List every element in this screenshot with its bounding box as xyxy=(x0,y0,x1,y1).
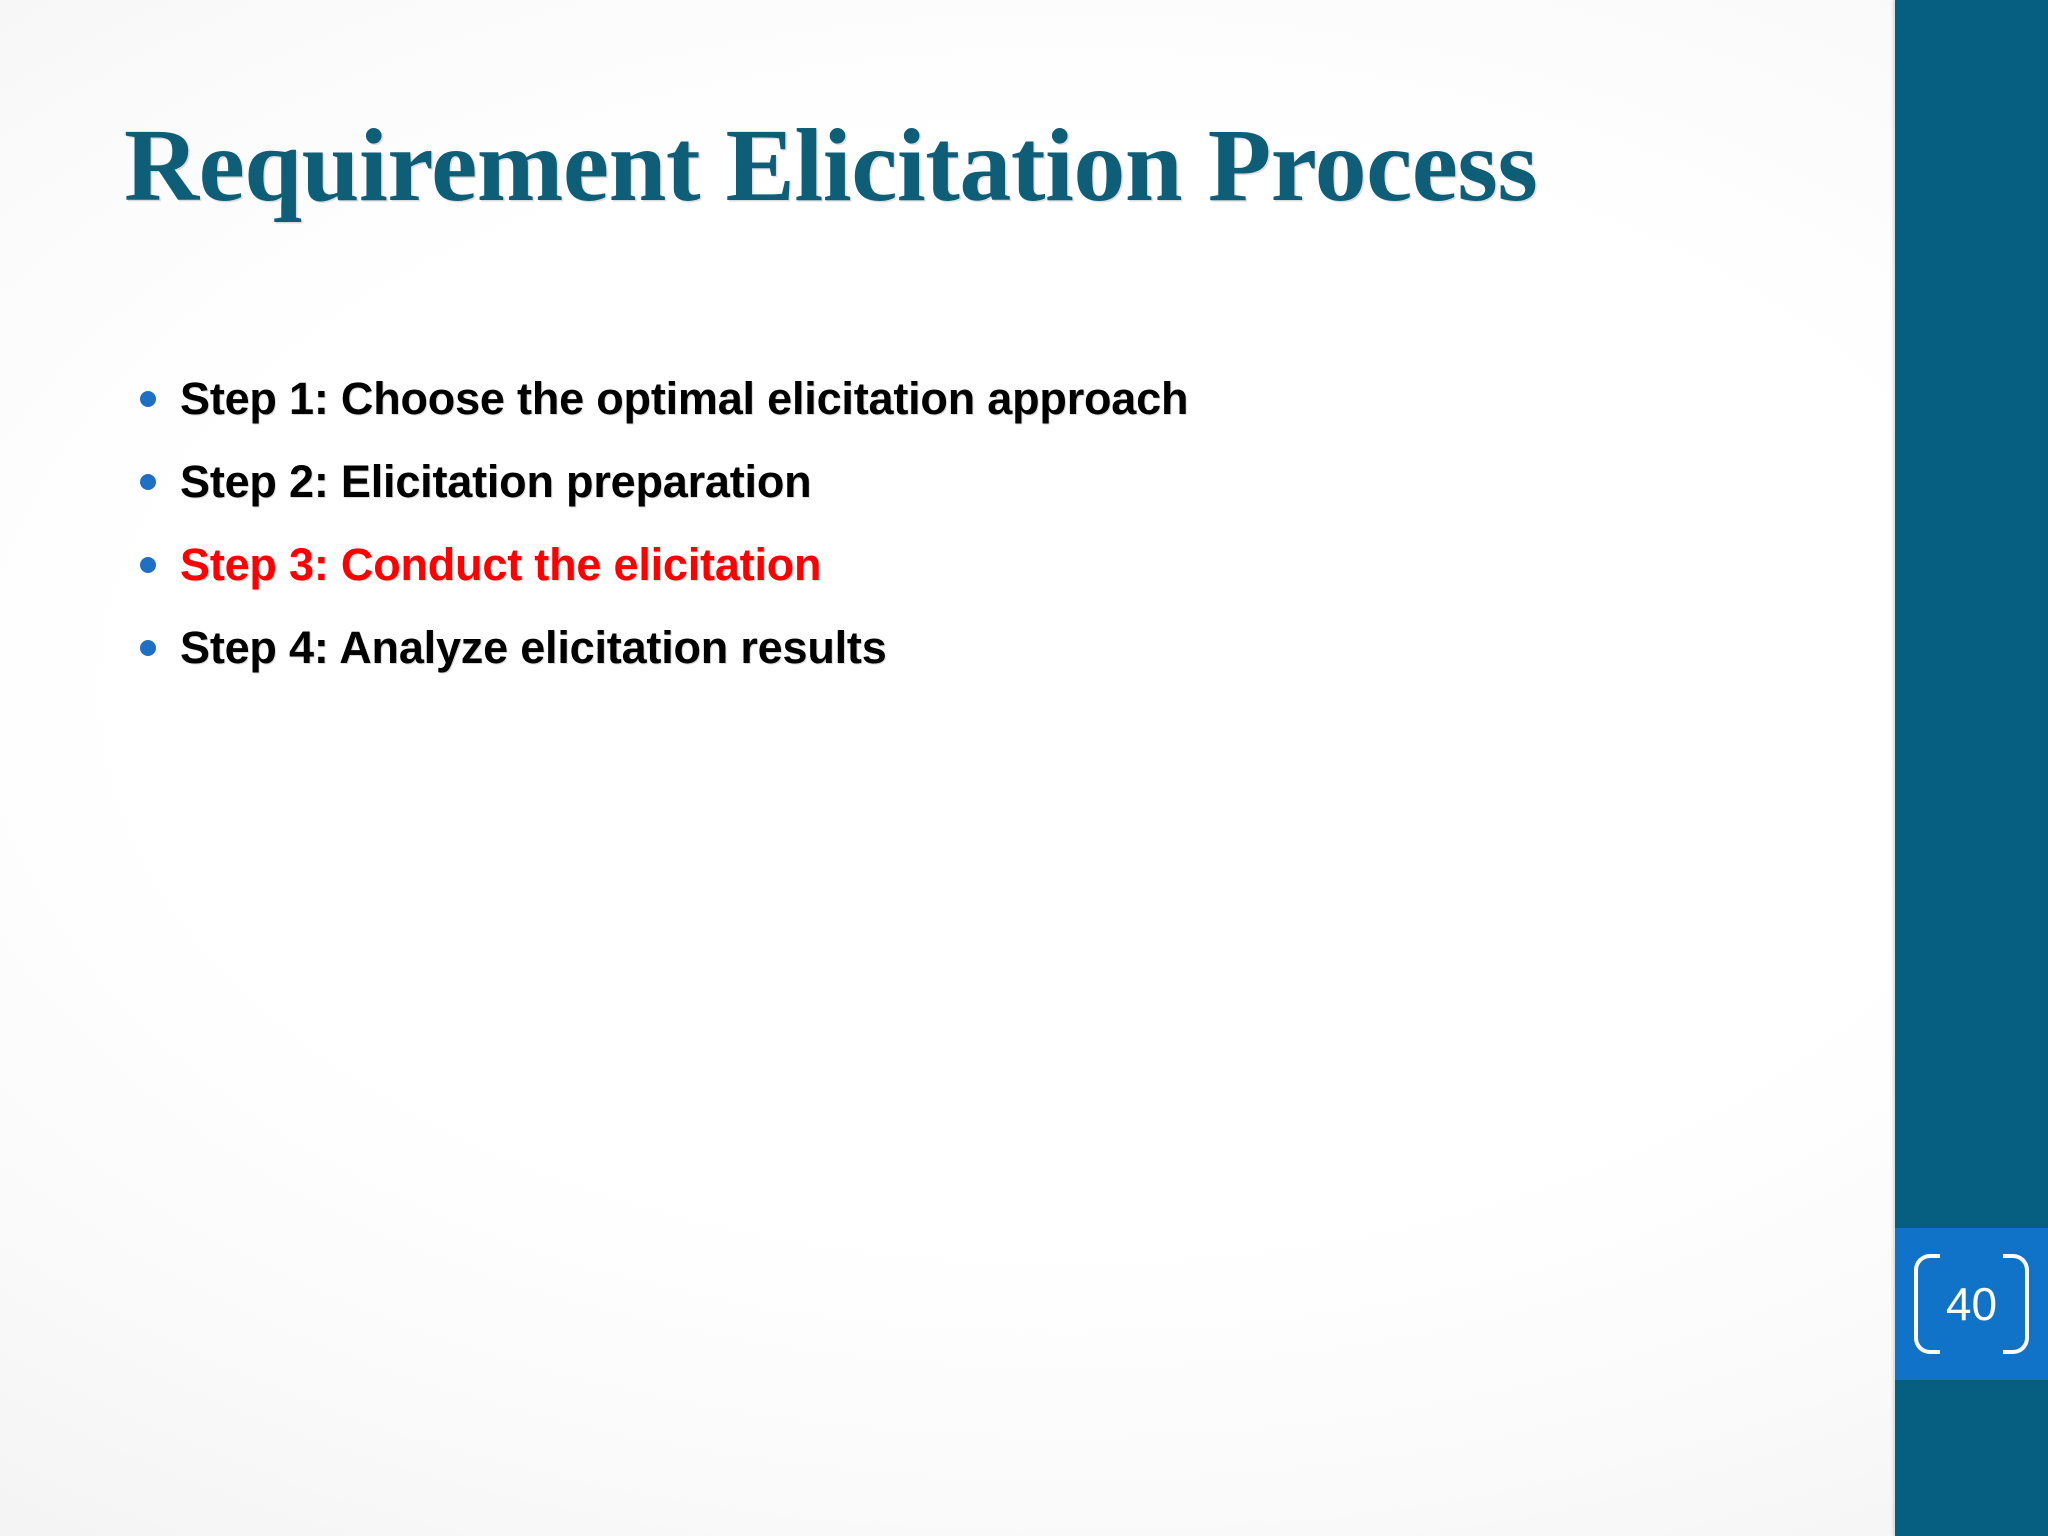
bracket-left-icon xyxy=(1914,1254,1940,1354)
page-number-badge: 40 xyxy=(1895,1228,2048,1380)
bullet-text: Step 4: Analyze elicitation results xyxy=(180,621,887,674)
right-accent-sidebar: 40 xyxy=(1895,0,2048,1536)
bullet-text-highlighted: Step 3: Conduct the elicitation xyxy=(180,538,821,591)
bullet-dot-icon xyxy=(140,391,156,407)
list-item: Step 3: Conduct the elicitation xyxy=(140,538,1790,594)
list-item: Step 2: Elicitation preparation xyxy=(140,455,1790,511)
slide-title: Requirement Elicitation Process xyxy=(124,108,1624,224)
bullet-list: Step 1: Choose the optimal elicitation a… xyxy=(140,372,1790,704)
slide-canvas: 40 Requirement Elicitation Process Step … xyxy=(0,0,2048,1536)
bracket-right-icon xyxy=(2003,1254,2029,1354)
bullet-dot-icon xyxy=(140,557,156,573)
bullet-dot-icon xyxy=(140,474,156,490)
bullet-dot-icon xyxy=(140,640,156,656)
bullet-text: Step 1: Choose the optimal elicitation a… xyxy=(180,372,1188,425)
slide-background xyxy=(0,0,2048,1536)
page-number-text: 40 xyxy=(1946,1281,1997,1327)
list-item: Step 4: Analyze elicitation results xyxy=(140,621,1790,677)
list-item: Step 1: Choose the optimal elicitation a… xyxy=(140,372,1790,428)
bullet-text: Step 2: Elicitation preparation xyxy=(180,455,811,508)
